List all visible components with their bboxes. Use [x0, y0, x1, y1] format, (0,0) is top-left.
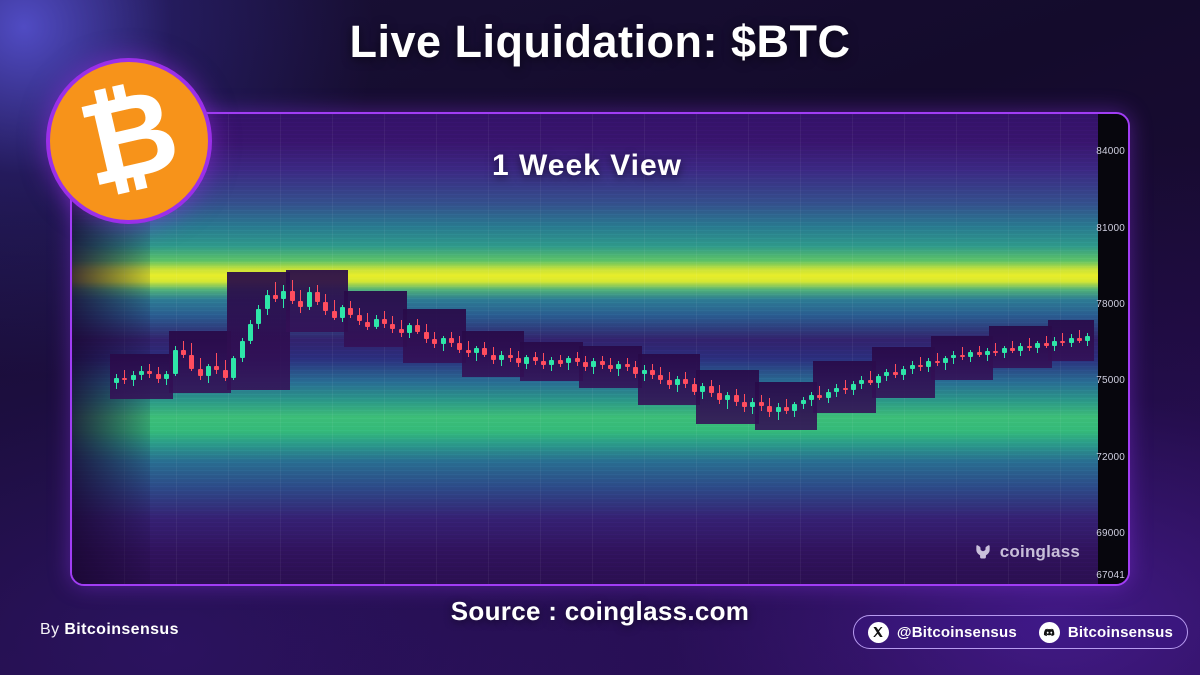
- candlestick: [642, 365, 647, 382]
- candlestick: [281, 285, 286, 308]
- candlestick: [901, 366, 906, 380]
- candlestick: [508, 348, 513, 362]
- candlestick: [189, 343, 194, 371]
- price-axis-tick: 75000: [1096, 375, 1125, 386]
- candlestick: [1027, 338, 1032, 351]
- candlestick: [675, 376, 680, 391]
- candlestick: [474, 346, 479, 361]
- candlestick: [265, 290, 270, 315]
- liquidation-heatmap-chart[interactable]: 1 Week View coinglass 840008100078000750…: [70, 112, 1130, 586]
- candlestick: [658, 367, 663, 384]
- coinglass-watermark-label: coinglass: [1000, 542, 1080, 562]
- candlestick: [231, 356, 236, 380]
- candlestick: [893, 364, 898, 378]
- candlestick: [776, 403, 781, 420]
- candlestick: [290, 280, 295, 304]
- candlestick: [491, 347, 496, 364]
- candlestick: [935, 353, 940, 366]
- candlestick: [516, 351, 521, 368]
- candlestick: [868, 371, 873, 385]
- candlestick: [558, 355, 563, 368]
- candlestick: [549, 357, 554, 371]
- candlestick: [784, 399, 789, 414]
- byline-name: Bitcoinsensus: [64, 621, 179, 638]
- candlestick: [323, 294, 328, 316]
- candlestick: [131, 371, 136, 386]
- candlestick: [759, 395, 764, 410]
- candlestick: [223, 360, 228, 382]
- candlestick: [198, 358, 203, 380]
- candlestick: [307, 287, 312, 310]
- candlestick: [750, 398, 755, 415]
- candlestick: [457, 336, 462, 354]
- candlestick: [441, 336, 446, 351]
- candlestick: [1085, 333, 1090, 346]
- candlestick: [591, 358, 596, 373]
- price-axis-tick: 67041: [1096, 570, 1125, 581]
- bitcoin-icon: ₿: [70, 71, 188, 205]
- candlestick: [1018, 343, 1023, 356]
- candlestick: [951, 351, 956, 364]
- candlestick: [1044, 336, 1049, 349]
- social-discord[interactable]: Bitcoinsensus: [1039, 622, 1173, 643]
- candlestick: [566, 356, 571, 370]
- candlestick: [399, 320, 404, 337]
- candlestick: [650, 364, 655, 379]
- coinglass-bull-icon: [973, 542, 993, 562]
- candlestick: [315, 285, 320, 305]
- price-axis-tick: 72000: [1096, 452, 1125, 463]
- candlestick: [240, 338, 245, 362]
- candlestick: [851, 381, 856, 395]
- candlestick: [993, 343, 998, 356]
- candlestick: [884, 369, 889, 382]
- candlestick: [683, 372, 688, 387]
- candlestick: [1035, 341, 1040, 354]
- candlestick: [214, 353, 219, 373]
- candlestick: [600, 356, 605, 369]
- candlestick: [340, 305, 345, 322]
- candlestick: [1077, 330, 1082, 343]
- candlestick: [801, 397, 806, 410]
- candlestick: [834, 384, 839, 397]
- candlestick: [432, 332, 437, 349]
- candlestick: [926, 358, 931, 372]
- candlestick: [466, 341, 471, 358]
- price-axis-tick: 81000: [1096, 223, 1125, 234]
- candlestick: [943, 356, 948, 370]
- candlestick: [918, 357, 923, 371]
- candlestick: [700, 383, 705, 400]
- candlestick: [164, 371, 169, 385]
- social-discord-handle: Bitcoinsensus: [1068, 624, 1173, 641]
- candlestick: [717, 385, 722, 404]
- candlestick: [424, 324, 429, 343]
- candlestick: [1069, 334, 1074, 347]
- candlestick: [1052, 337, 1057, 351]
- candlestick: [817, 386, 822, 400]
- candlestick: [122, 370, 127, 384]
- candlestick: [449, 332, 454, 347]
- candlestick: [173, 346, 178, 377]
- page-title: Live Liquidation: $BTC: [0, 16, 1200, 68]
- candlestick: [273, 282, 278, 302]
- candlestick: [541, 353, 546, 368]
- candlestick: [181, 341, 186, 359]
- byline: By Bitcoinsensus: [40, 621, 179, 639]
- candlestick: [407, 323, 412, 338]
- candlestick: [348, 301, 353, 318]
- candlestick: [298, 290, 303, 313]
- candlestick: [843, 380, 848, 394]
- candlestick: [248, 320, 253, 344]
- social-handles-bar: @Bitcoinsensus Bitcoinsensus: [853, 615, 1188, 649]
- candlestick: [482, 342, 487, 357]
- candlestick: [1060, 333, 1065, 346]
- price-axis-tick: 69000: [1096, 528, 1125, 539]
- candlestick: [977, 346, 982, 357]
- candlestick: [876, 374, 881, 388]
- candlestick: [415, 319, 420, 334]
- candlestick: [147, 364, 152, 378]
- candlestick: [114, 374, 119, 389]
- candlestick: [725, 392, 730, 410]
- candlestick: [365, 313, 370, 331]
- social-x-handle: @Bitcoinsensus: [897, 624, 1017, 641]
- candlestick: [910, 361, 915, 374]
- candlestick: [332, 300, 337, 320]
- candlestick: [960, 347, 965, 360]
- coinglass-watermark: coinglass: [973, 542, 1080, 562]
- candlestick: [1010, 341, 1015, 354]
- candlestick: [616, 361, 621, 376]
- candlestick: [156, 367, 161, 382]
- candlestick: [826, 389, 831, 403]
- bitcoin-logo: ₿: [46, 58, 212, 224]
- candlestick: [256, 305, 261, 329]
- candlestick: [533, 352, 538, 365]
- candlestick: [709, 380, 714, 397]
- candlestick: [667, 372, 672, 389]
- candlestick: [206, 364, 211, 383]
- candlestick: [524, 355, 529, 369]
- candlestick: [583, 356, 588, 371]
- discord-icon: [1039, 622, 1060, 643]
- candlestick: [374, 315, 379, 329]
- candlestick: [692, 378, 697, 396]
- candlestick: [575, 352, 580, 366]
- candlestick: [792, 402, 797, 417]
- candlestick: [633, 361, 638, 378]
- candlestick: [499, 351, 504, 366]
- candlestick: [809, 392, 814, 406]
- candlestick: [742, 394, 747, 412]
- price-axis-tick: 84000: [1096, 146, 1125, 157]
- candlestick: [985, 348, 990, 361]
- price-axis: 84000810007800075000720006900067041: [1098, 114, 1128, 584]
- candlestick: [625, 358, 630, 371]
- candlestick: [357, 308, 362, 326]
- byline-prefix: By: [40, 621, 59, 638]
- price-axis-tick: 78000: [1096, 299, 1125, 310]
- candlestick: [382, 311, 387, 328]
- candlestick: [608, 358, 613, 372]
- candlestick: [139, 366, 144, 380]
- social-x[interactable]: @Bitcoinsensus: [868, 622, 1017, 643]
- candlestick: [767, 398, 772, 417]
- candlestick: [859, 376, 864, 389]
- candlestick-overlay: [72, 114, 1102, 584]
- x-icon: [868, 622, 889, 643]
- candlestick: [734, 389, 739, 406]
- candlestick: [390, 316, 395, 333]
- candlestick: [968, 350, 973, 363]
- liquidation-poster: Live Liquidation: $BTC 1 Week View coing…: [0, 0, 1200, 675]
- candlestick: [1002, 346, 1007, 359]
